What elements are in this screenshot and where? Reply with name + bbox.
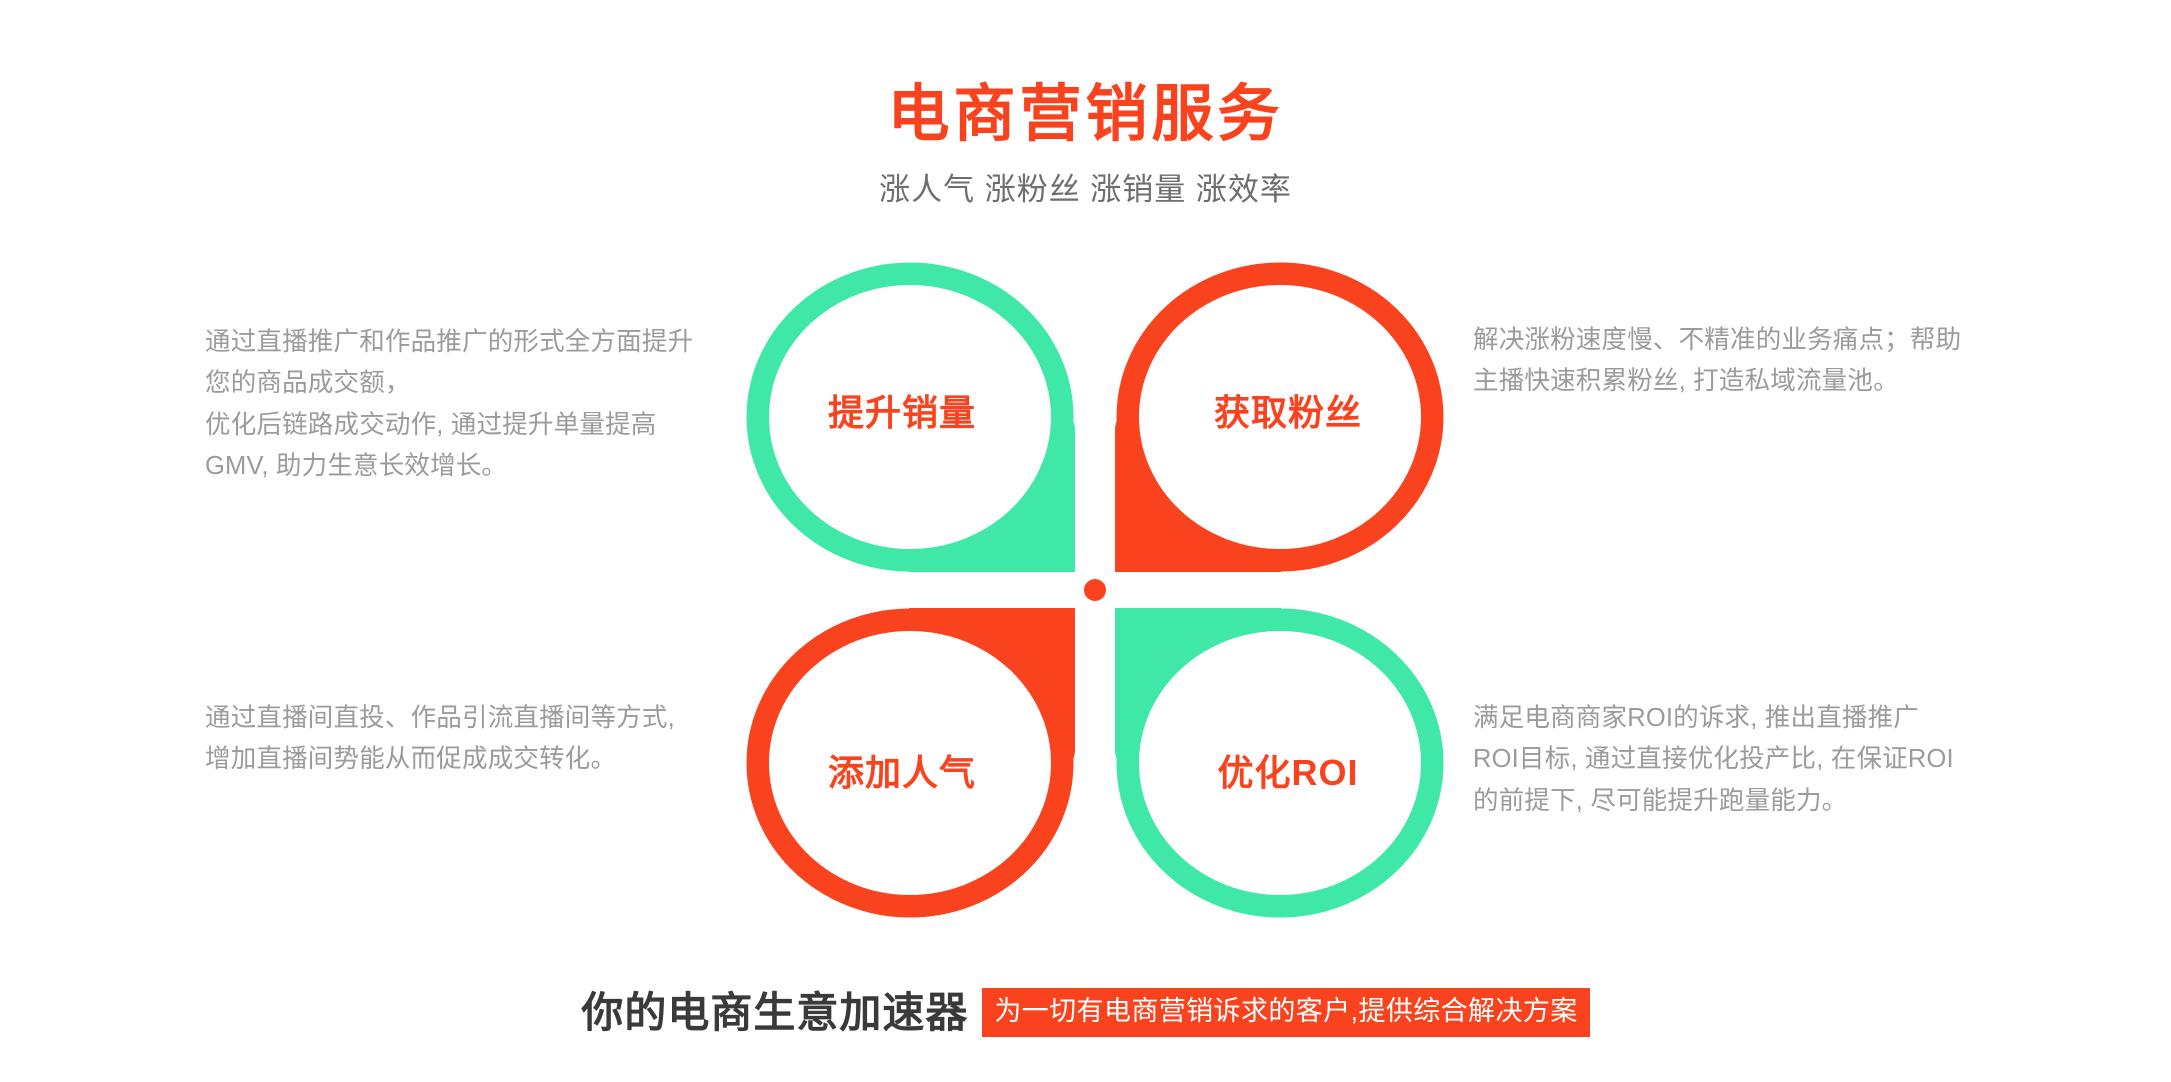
page-footer: 你的电商生意加速器 为一切有电商营销诉求的客户,提供综合解决方案	[0, 988, 2171, 1037]
petal-bottom-left-label: 添加人气	[745, 608, 1075, 918]
description-bottom-right: 满足电商商家ROI的诉求, 推出直播推广ROI目标, 通过直接优化投产比, 在保…	[1473, 698, 1963, 822]
petal-top-left[interactable]: 提升销量	[745, 262, 1075, 572]
page-title: 电商营销服务	[0, 78, 2171, 149]
marketing-infographic-page: 电商营销服务 涨人气 涨粉丝 涨销量 涨效率 通过直播推广和作品推广的形式全方面…	[0, 0, 2171, 1082]
description-bottom-left: 通过直播间直投、作品引流直播间等方式, 增加直播间势能从而促成成交转化。	[205, 698, 695, 781]
petal-bottom-right[interactable]: 优化ROI	[1115, 608, 1445, 918]
petal-top-left-label: 提升销量	[745, 262, 1075, 572]
footer-badge: 为一切有电商营销诉求的客户,提供综合解决方案	[982, 988, 1589, 1037]
four-petal-diagram: 提升销量 获取粉丝 添加人气	[745, 262, 1445, 918]
page-header: 电商营销服务 涨人气 涨粉丝 涨销量 涨效率	[0, 78, 2171, 208]
description-top-left: 通过直播推广和作品推广的形式全方面提升您的商品成交额， 优化后链路成交动作, 通…	[205, 322, 695, 487]
petal-top-right-label: 获取粉丝	[1115, 262, 1445, 572]
petal-top-right[interactable]: 获取粉丝	[1115, 262, 1445, 572]
footer-headline: 你的电商生意加速器	[581, 992, 968, 1034]
petal-bottom-left[interactable]: 添加人气	[745, 608, 1075, 918]
page-subtitle: 涨人气 涨粉丝 涨销量 涨效率	[0, 171, 2171, 208]
description-top-right: 解决涨粉速度慢、不精准的业务痛点；帮助主播快速积累粉丝, 打造私域流量池。	[1473, 320, 1963, 403]
petal-bottom-right-label: 优化ROI	[1115, 608, 1445, 918]
center-dot	[1084, 579, 1106, 601]
